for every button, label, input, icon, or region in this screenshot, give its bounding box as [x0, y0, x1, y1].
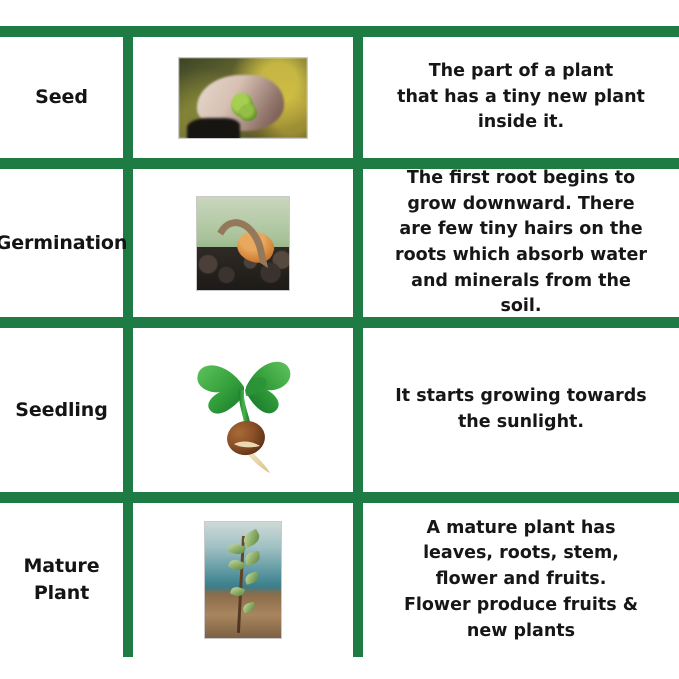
stage-name-cell: Germination [0, 169, 133, 317]
table-row: Seed The part of a plant that has a tiny… [0, 37, 679, 169]
plant-life-cycle-table: Seed The part of a plant that has a tiny… [0, 26, 679, 657]
table-row: Seedling [0, 328, 679, 503]
stage-description-cell: The part of a plant that has a tiny new … [363, 37, 679, 158]
stage-image-cell [133, 328, 363, 492]
stage-description: The first root begins to grow downward. … [395, 166, 647, 320]
table-row: Germination The first root begins to gro… [0, 169, 679, 328]
leaf-shape-left [197, 365, 244, 413]
stage-image-cell [133, 37, 363, 158]
stage-description: It starts growing towards the sunlight. [395, 384, 646, 435]
stage-image-cell [133, 169, 363, 317]
stage-description-cell: It starts growing towards the sunlight. [363, 328, 679, 492]
stage-name-cell: Mature Plant [0, 503, 133, 657]
stage-description-cell: The first root begins to grow downward. … [363, 169, 679, 317]
root-shape [248, 452, 270, 473]
seed-in-hand-photo [178, 57, 308, 139]
table-row: Mature Plant A mature plant has leaves, … [0, 503, 679, 657]
stage-description-cell: A mature plant has leaves, roots, stem, … [363, 503, 679, 657]
stage-label: Mature Plant [24, 553, 100, 607]
seed-shape [224, 417, 268, 458]
mature-plant-photo [204, 521, 282, 639]
stage-name-cell: Seedling [0, 328, 133, 492]
stage-label: Germination [0, 230, 127, 257]
stage-label: Seedling [15, 397, 107, 424]
stage-description: The part of a plant that has a tiny new … [397, 59, 645, 136]
sleeve-shape [187, 118, 241, 138]
stage-description-secondary: Flower produce fruits & new plants [404, 593, 638, 644]
stage-image-cell [133, 503, 363, 657]
germinating-seed-photo [196, 196, 290, 291]
seedling-illustration [188, 340, 298, 480]
stage-name-cell: Seed [0, 37, 133, 158]
stage-label: Seed [35, 84, 88, 111]
stage-description: A mature plant has leaves, roots, stem, … [404, 516, 638, 593]
